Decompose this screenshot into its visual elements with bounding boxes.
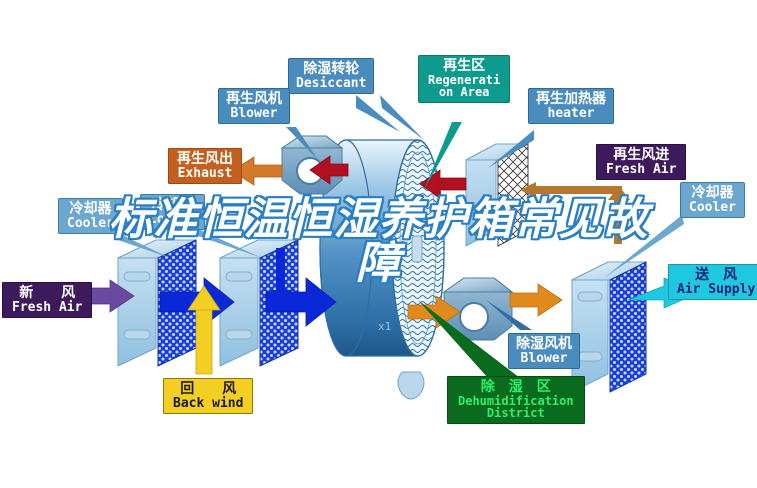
diagram-canvas: x1 除湿转轮 Desiccant 再生风机 Blower 再生风出 Exhau… xyxy=(0,0,757,488)
label-dehumidification-blower-cn: 除湿风机 xyxy=(516,337,572,352)
cooler-unit-right xyxy=(572,262,646,392)
label-cooler-left-2: 冷却器 Cooler xyxy=(140,194,205,230)
label-regeneration-heater: 再生加热器 heater xyxy=(528,88,614,124)
arrow-dehumid-out xyxy=(510,284,562,316)
label-dehumidification-district-en-2: District xyxy=(458,407,574,420)
label-regeneration-heater-en: heater xyxy=(536,107,606,121)
label-regeneration-area: 再生区 Regenerati on Area xyxy=(418,55,510,103)
label-desiccant: 除湿转轮 Desiccant xyxy=(288,58,374,94)
label-back-wind: 回 风 Back wind xyxy=(163,378,253,414)
label-regeneration-fresh-air-cn: 再生风进 xyxy=(606,148,676,163)
dehumidifier-system-illustration: x1 xyxy=(0,0,757,488)
label-back-wind-en: Back wind xyxy=(173,397,243,411)
label-desiccant-en: Desiccant xyxy=(296,77,366,91)
label-regeneration-area-cn: 再生区 xyxy=(428,59,500,74)
label-cooler-left-1: 冷却器 Cooler xyxy=(58,198,123,234)
label-regeneration-blower-en: Blower xyxy=(226,107,282,121)
label-dehumidification-blower-en: Blower xyxy=(516,352,572,366)
label-exhaust-cn: 再生风出 xyxy=(177,152,233,167)
label-dehumidification-district-cn: 除 湿 区 xyxy=(458,380,574,395)
label-cooler-left-2-en: Cooler xyxy=(149,213,196,227)
label-dehumidification-district: 除 湿 区 Dehumidification District xyxy=(447,376,585,424)
label-air-supply: 送 风 Air Supply xyxy=(668,264,757,300)
label-regeneration-area-en-2: on Area xyxy=(428,86,500,99)
label-cooler-right: 冷却器 Cooler xyxy=(680,182,745,218)
label-cooler-right-cn: 冷却器 xyxy=(689,186,736,201)
label-cooler-right-en: Cooler xyxy=(689,201,736,215)
label-fresh-air-en: Fresh Air xyxy=(12,301,82,315)
label-regeneration-heater-cn: 再生加热器 xyxy=(536,92,606,107)
label-air-supply-cn: 送 风 xyxy=(677,268,755,283)
label-regeneration-fresh-air-en: Fresh Air xyxy=(606,163,676,177)
label-exhaust-en: Exhaust xyxy=(177,167,233,181)
label-fresh-air: 新 风 Fresh Air xyxy=(2,282,92,318)
label-regeneration-fresh-air: 再生风进 Fresh Air xyxy=(596,144,686,180)
label-regeneration-blower: 再生风机 Blower xyxy=(218,88,290,124)
label-fresh-air-cn: 新 风 xyxy=(12,286,82,301)
label-cooler-left-1-en: Cooler xyxy=(67,217,114,231)
label-air-supply-en: Air Supply xyxy=(677,283,755,297)
label-desiccant-cn: 除湿转轮 xyxy=(296,62,366,77)
label-cooler-left-1-cn: 冷却器 xyxy=(67,202,114,217)
label-regeneration-blower-cn: 再生风机 xyxy=(226,92,282,107)
label-cooler-left-2-cn: 冷却器 xyxy=(149,198,196,213)
regeneration-heater xyxy=(466,144,528,246)
label-back-wind-cn: 回 风 xyxy=(173,382,243,397)
arrow-regen-fresh-air xyxy=(520,182,630,244)
watermark-text: x1 xyxy=(378,320,391,333)
label-exhaust: 再生风出 Exhaust xyxy=(168,148,242,184)
label-dehumidification-blower: 除湿风机 Blower xyxy=(508,333,580,369)
